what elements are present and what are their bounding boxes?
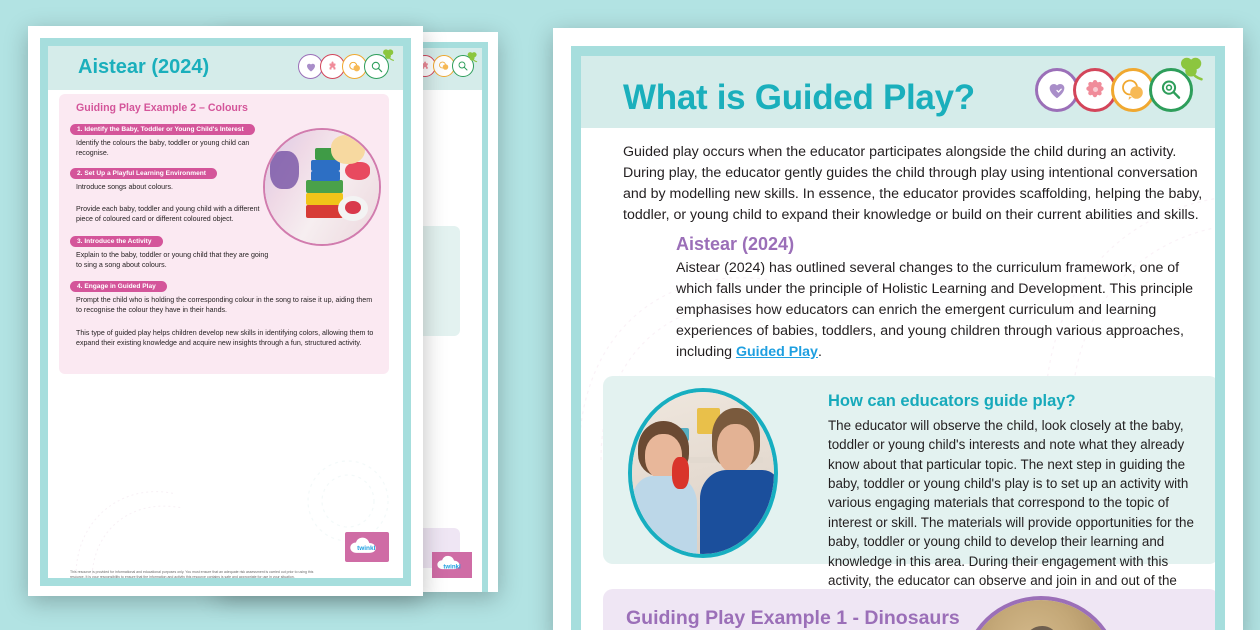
step-2-extra: Provide each baby, toddler and young chi… — [76, 204, 271, 224]
closing-body: This type of guided play helps children … — [76, 328, 376, 348]
page-sheet: What is Guided Play? Guided play occurs … — [581, 56, 1215, 630]
step-body-2: Introduce songs about colours. — [76, 182, 256, 192]
step-pill-1: 1. Identify the Baby, Toddler or Young C… — [70, 124, 255, 135]
educator-and-child-photo — [628, 388, 778, 558]
page-title: What is Guided Play? — [623, 78, 975, 118]
step-body-3: Explain to the baby, toddler or young ch… — [76, 250, 276, 270]
aistear-body-tail: . — [818, 344, 822, 360]
aistear-heading: Aistear (2024) — [676, 234, 794, 255]
coloured-blocks-photo — [263, 128, 381, 246]
screenshot-stage: ty. During play, r modelling new g child… — [0, 0, 1260, 630]
twinkl-logo: twinkl — [345, 532, 389, 562]
footer-disclaimer: This resource is provided for informatio… — [70, 570, 325, 578]
page-sheet: Aistear (2024) Guiding Play Example 2 – … — [48, 46, 403, 578]
guided-play-link[interactable]: Guided Play — [736, 344, 818, 360]
badge-row — [1035, 68, 1193, 112]
guide-body: The educator will observe the child, loo… — [828, 416, 1200, 610]
twinkl-logo: twinkl — [432, 552, 472, 578]
aistear-body: Aistear (2024) has outlined several chan… — [676, 258, 1215, 363]
shamrock-icon — [1176, 56, 1206, 89]
shamrock-icon — [380, 47, 396, 68]
twinkl-cloud-icon: twinkl — [348, 536, 386, 559]
example-heading: Guiding Play Example 1 - Dinosaurs — [626, 607, 960, 630]
document-main[interactable]: What is Guided Play? Guided play occurs … — [553, 28, 1243, 630]
svg-text:twinkl: twinkl — [357, 544, 375, 551]
decorative-swirl — [66, 476, 216, 578]
step-body-4: Prompt the child who is holding the corr… — [76, 295, 374, 315]
page-frame: What is Guided Play? Guided play occurs … — [571, 46, 1225, 630]
example-heading: Guiding Play Example 2 – Colours — [76, 102, 248, 114]
guide-heading: How can educators guide play? — [828, 392, 1076, 411]
shamrock-icon — [465, 50, 479, 69]
page-frame: Aistear (2024) Guiding Play Example 2 – … — [40, 38, 411, 586]
twinkl-cloud-icon: twinkl — [435, 555, 469, 575]
step-body-1: Identify the colours the baby, toddler o… — [76, 138, 256, 158]
step-pill-3: 3. Introduce the Activity — [70, 236, 163, 247]
badge-row — [298, 54, 389, 79]
intro-paragraph: Guided play occurs when the educator par… — [623, 142, 1213, 226]
step-pill-2: 2. Set Up a Playful Learning Environment — [70, 168, 217, 179]
document-preview-left[interactable]: Aistear (2024) Guiding Play Example 2 – … — [28, 26, 423, 596]
step-pill-4: 4. Engage in Guided Play — [70, 281, 167, 292]
page-title: Aistear (2024) — [78, 56, 209, 79]
svg-text:twinkl: twinkl — [443, 563, 461, 570]
